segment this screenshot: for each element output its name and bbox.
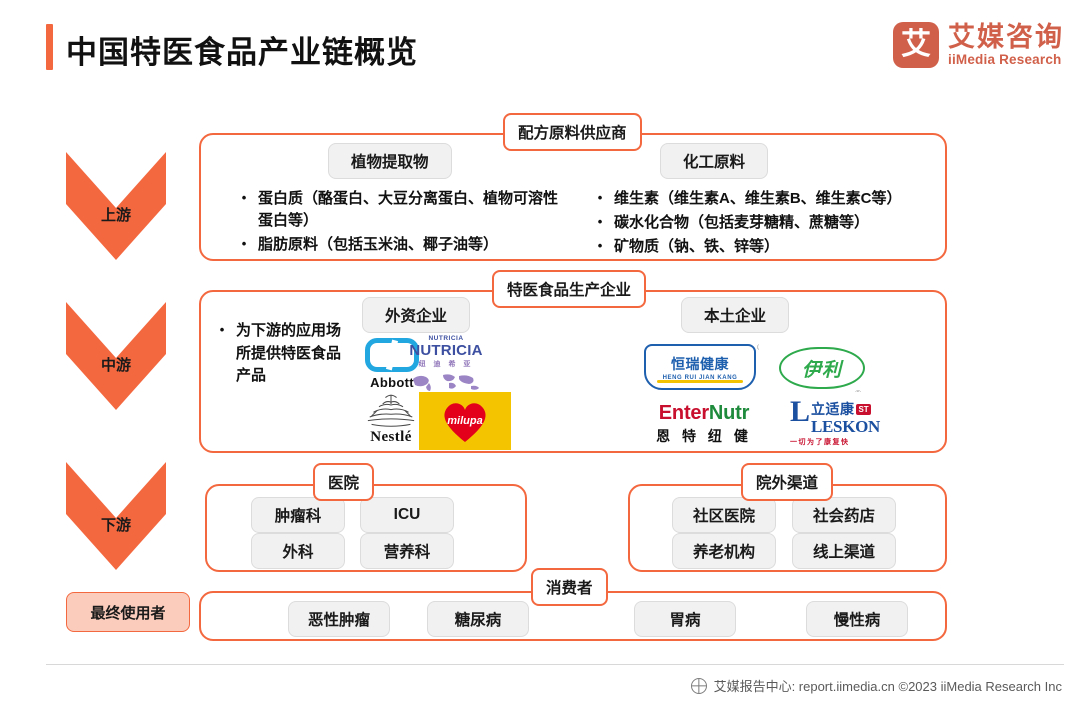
registered-mark: ® [757, 343, 759, 352]
bullet-dot: • [594, 212, 606, 232]
brand-label: 恒瑞健康 [671, 354, 729, 374]
brand-label-part-b: Nutr [709, 402, 749, 424]
brand-logo-enternutr: EnterNutr 恩 特 纽 健 [640, 400, 768, 448]
chip-surgery: 外科 [251, 533, 345, 569]
list-item-label: 碳水化合物（包括麦芽糖精、蔗糖等） [614, 212, 934, 234]
leskon-st-badge: ST [856, 404, 870, 415]
chip-online-channel: 线上渠道 [792, 533, 896, 569]
chip-elderly-care: 养老机构 [672, 533, 776, 569]
brand-label: Nestlé [370, 429, 412, 446]
list-upstream-left: • 蛋白质（酪蛋白、大豆分离蛋白、植物可溶性蛋白等） • 脂肪原料（包括玉米油、… [238, 188, 568, 257]
list-item-label: 为下游的应用场所提供特医食品产品 [236, 320, 344, 388]
stage-arrow-midstream: 中游 [66, 302, 166, 410]
logo-glyph: 艾 [893, 22, 939, 68]
chip-icu: ICU [360, 497, 454, 533]
brand-logo-nutricia: NUTRICIA NUTRICIA 纽 迪 希 亚 [400, 334, 492, 394]
list-item: • 为下游的应用场所提供特医食品产品 [216, 320, 344, 388]
final-user-pill: 最终使用者 [66, 592, 190, 632]
chip-chronic-disease: 慢性病 [806, 601, 908, 637]
section-tab-consumer: 消费者 [531, 568, 608, 606]
footer-text: 艾媒报告中心: report.iimedia.cn ©2023 iiMedia … [714, 676, 1062, 695]
brand-label-part-a: Enter [659, 402, 709, 424]
chip-plant-extract: 植物提取物 [328, 143, 452, 179]
chip-stomach-disease: 胃病 [634, 601, 736, 637]
list-item-label: 蛋白质（酪蛋白、大豆分离蛋白、植物可溶性蛋白等） [258, 188, 568, 232]
list-item: • 矿物质（钠、铁、锌等） [594, 236, 934, 258]
leskon-badge: L 立适康 ST LESKON 一切为了康复快 [790, 399, 880, 446]
brand-label: NUTRICIA [409, 342, 482, 359]
brand-label: 立适康 [811, 399, 855, 419]
brand-name-cn: 艾媒咨询 [948, 23, 1064, 51]
list-item: • 蛋白质（酪蛋白、大豆分离蛋白、植物可溶性蛋白等） [238, 188, 568, 232]
world-map-icon [409, 371, 483, 393]
chip-community-hospital: 社区医院 [672, 497, 776, 533]
brand-logo-hengrui: 恒瑞健康 HENG RUI JIAN KANG ® [641, 342, 759, 392]
brand-label: 伊利 [802, 355, 842, 382]
chip-nutrition-dept: 营养科 [360, 533, 454, 569]
leskon-cn-row: 立适康 ST [811, 399, 880, 419]
stage-arrow-downstream: 下游 [66, 462, 166, 570]
footer-divider [46, 664, 1064, 665]
chip-malignant-tumor: 恶性肿瘤 [288, 601, 390, 637]
nestle-birds-nest-icon [360, 392, 422, 429]
section-tab-midstream: 特医食品生产企业 [492, 270, 646, 308]
hengrui-badge: 恒瑞健康 HENG RUI JIAN KANG ® [644, 344, 756, 390]
page-footer: 艾媒报告中心: report.iimedia.cn ©2023 iiMedia … [691, 676, 1062, 695]
list-upstream-right: • 维生素（维生素A、维生素B、维生素C等） • 碳水化合物（包括麦芽糖精、蔗糖… [594, 188, 934, 259]
brand-label: milupa [439, 398, 491, 444]
bullet-dot: • [216, 320, 228, 340]
section-tab-hospital: 医院 [313, 463, 374, 501]
list-item: • 维生素（维生素A、维生素B、维生素C等） [594, 188, 934, 210]
stage-label-upstream: 上游 [66, 204, 166, 225]
list-item-label: 脂肪原料（包括玉米油、椰子油等） [258, 234, 568, 256]
brand-logo-milupa: milupa [419, 392, 511, 450]
chip-pharmacy: 社会药店 [792, 497, 896, 533]
page-title: 中国特医食品产业链概览 [66, 27, 418, 72]
yili-badge: 伊利 ® [779, 347, 865, 389]
stage-label-downstream: 下游 [66, 514, 166, 535]
bullet-dot: • [238, 234, 250, 254]
brand-label-cn: 纽 迪 希 亚 [419, 359, 474, 369]
list-item-label: 维生素（维生素A、维生素B、维生素C等） [614, 188, 934, 210]
brand-name-en: iiMedia Research [948, 53, 1064, 67]
midstream-note: • 为下游的应用场所提供特医食品产品 [216, 320, 344, 390]
section-tab-outside-channel: 院外渠道 [741, 463, 833, 501]
brand-label-top: NUTRICIA [428, 335, 463, 342]
brand-logo-text: 艾媒咨询 iiMedia Research [948, 23, 1064, 68]
accent-bar [657, 380, 743, 383]
chip-diabetes: 糖尿病 [427, 601, 529, 637]
leskon-row: L 立适康 ST LESKON [790, 399, 880, 435]
list-item-label: 矿物质（钠、铁、锌等） [614, 236, 934, 258]
title-accent-bar [46, 24, 53, 70]
brand-label-en: LESKON [811, 419, 880, 435]
heart-icon: milupa [439, 398, 491, 444]
bullet-dot: • [238, 188, 250, 208]
brand-label: EnterNutr [659, 403, 749, 423]
list-item: • 脂肪原料（包括玉米油、椰子油等） [238, 234, 568, 256]
globe-icon [691, 678, 707, 694]
list-item: • 碳水化合物（包括麦芽糖精、蔗糖等） [594, 212, 934, 234]
registered-mark: ® [855, 389, 861, 392]
milupa-tile: milupa [419, 392, 511, 450]
brand-tagline: 一切为了康复快 [790, 437, 850, 447]
brand-logo-leskon: L 立适康 ST LESKON 一切为了康复快 [776, 398, 894, 448]
page-header: 中国特医食品产业链概览 艾 艾媒咨询 iiMedia Research [0, 0, 1080, 92]
section-tab-upstream: 配方原料供应商 [503, 113, 642, 151]
iimedia-logo-icon: 艾 [893, 22, 939, 68]
brand-label-cn: 恩 特 纽 健 [656, 426, 752, 446]
leskon-text: 立适康 ST LESKON [811, 399, 880, 435]
chip-chemical-material: 化工原料 [660, 143, 768, 179]
bullet-dot: • [594, 188, 606, 208]
chip-foreign-enterprise: 外资企业 [362, 297, 470, 333]
stage-arrow-upstream: 上游 [66, 152, 166, 260]
brand-logo: 艾 艾媒咨询 iiMedia Research [893, 22, 1064, 68]
leskon-initial: L [790, 399, 810, 425]
stage-label-midstream: 中游 [66, 354, 166, 375]
chip-oncology: 肿瘤科 [251, 497, 345, 533]
bullet-dot: • [594, 236, 606, 256]
brand-logo-yili: 伊利 ® [776, 344, 868, 392]
chip-domestic-enterprise: 本土企业 [681, 297, 789, 333]
